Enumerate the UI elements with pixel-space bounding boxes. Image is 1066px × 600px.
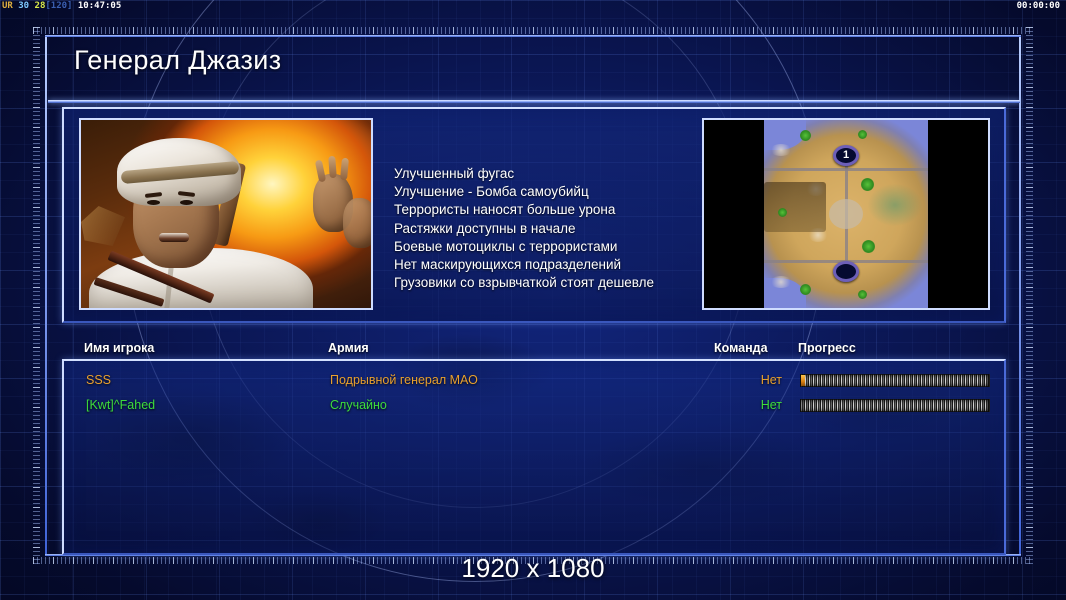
column-header-progress: Прогресс	[798, 341, 856, 355]
title-underline	[48, 100, 1020, 103]
general-info-panel: Улучшенный фугас Улучшение - Бомба самоу…	[62, 107, 1006, 323]
description-line: Растяжки доступны в начале	[394, 220, 754, 238]
player-name: SSS	[86, 368, 111, 393]
status-num-2: 28	[35, 1, 46, 11]
top-status-bar: UR 30 28[120] 10:47:05 00:00:00	[0, 0, 1066, 13]
minimap-letterbox-right	[928, 120, 988, 308]
player-army[interactable]: Подрывной генерал МАО	[330, 368, 478, 393]
game-screen: UR 30 28[120] 10:47:05 00:00:00 Генерал …	[0, 0, 1066, 600]
portrait-image	[81, 120, 371, 308]
minimap-marker-label: 1	[843, 150, 849, 161]
table-row[interactable]: SSS Подрывной генерал МАО Нет	[64, 368, 1004, 393]
player-team[interactable]: Нет	[724, 393, 782, 418]
general-portrait	[79, 118, 373, 310]
portrait-finger-2	[328, 156, 337, 178]
player-progress-bar	[800, 374, 990, 387]
portrait-eye-right	[180, 200, 193, 205]
player-team[interactable]: Нет	[724, 368, 782, 393]
minimap-tree-6	[800, 284, 811, 295]
page-title: Генерал Джазиз	[74, 45, 282, 76]
ruler-right	[1026, 27, 1033, 564]
player-progress-fill	[801, 375, 805, 386]
general-description-list: Улучшенный фугас Улучшение - Бомба самоу…	[394, 165, 754, 292]
minimap-tree-2	[858, 130, 867, 139]
column-header-name: Имя игрока	[84, 341, 154, 355]
minimap-tree-3	[861, 178, 874, 191]
frame-border-right	[1019, 35, 1021, 556]
minimap-tree-4	[778, 208, 787, 217]
ruler-top	[33, 27, 1033, 34]
status-label-ur: UR	[2, 1, 13, 11]
player-list-panel: SSS Подрывной генерал МАО Нет [Kwt]^Fahe…	[62, 359, 1006, 555]
portrait-hand-back	[343, 198, 373, 248]
minimap-base-area	[764, 182, 826, 232]
minimap-tree-7	[858, 290, 867, 299]
status-num-1: 30	[18, 1, 29, 11]
description-line: Террористы наносят больше урона	[394, 201, 754, 219]
status-clock-right: 00:00:00	[1017, 0, 1060, 13]
minimap-rock-1	[770, 144, 792, 156]
minimap-tree-5	[862, 240, 875, 253]
frame-border-left	[45, 35, 47, 556]
status-bracket: [120]	[45, 1, 72, 11]
top-status-left: UR 30 28[120] 10:47:05	[2, 0, 121, 13]
player-list-headers: Имя игрока Армия Команда Прогресс	[62, 341, 1006, 357]
description-line: Боевые мотоциклы с террористами	[394, 238, 754, 256]
portrait-eye-left	[147, 200, 160, 205]
column-header-team: Команда	[714, 341, 768, 355]
resolution-label: 1920 x 1080	[0, 553, 1066, 584]
title-zone: Генерал Джазиз	[48, 35, 1020, 103]
player-name: [Kwt]^Fahed	[86, 393, 155, 418]
minimap-rock-2	[770, 276, 792, 288]
portrait-finger-3	[340, 158, 349, 181]
description-line: Улучшенный фугас	[394, 165, 754, 183]
description-line: Улучшение - Бомба самоубийц	[394, 183, 754, 201]
column-header-army: Армия	[328, 341, 369, 355]
table-row[interactable]: [Kwt]^Fahed Случайно Нет	[64, 393, 1004, 418]
player-army[interactable]: Случайно	[330, 393, 387, 418]
description-line: Нет маскирующихся подразделений	[394, 256, 754, 274]
ruler-left	[33, 27, 40, 564]
minimap-center-plaza	[829, 199, 863, 229]
portrait-debris	[81, 206, 125, 246]
player-progress-bar	[800, 399, 990, 412]
minimap-vegetation	[868, 184, 922, 226]
minimap-tree-1	[800, 130, 811, 141]
description-line: Грузовики со взрывчаткой стоят дешевле	[394, 274, 754, 292]
minimap-start-position-1[interactable]: 1	[833, 145, 859, 166]
status-time: 10:47:05	[78, 1, 121, 11]
portrait-mouth	[159, 233, 189, 242]
portrait-finger-1	[315, 160, 326, 183]
